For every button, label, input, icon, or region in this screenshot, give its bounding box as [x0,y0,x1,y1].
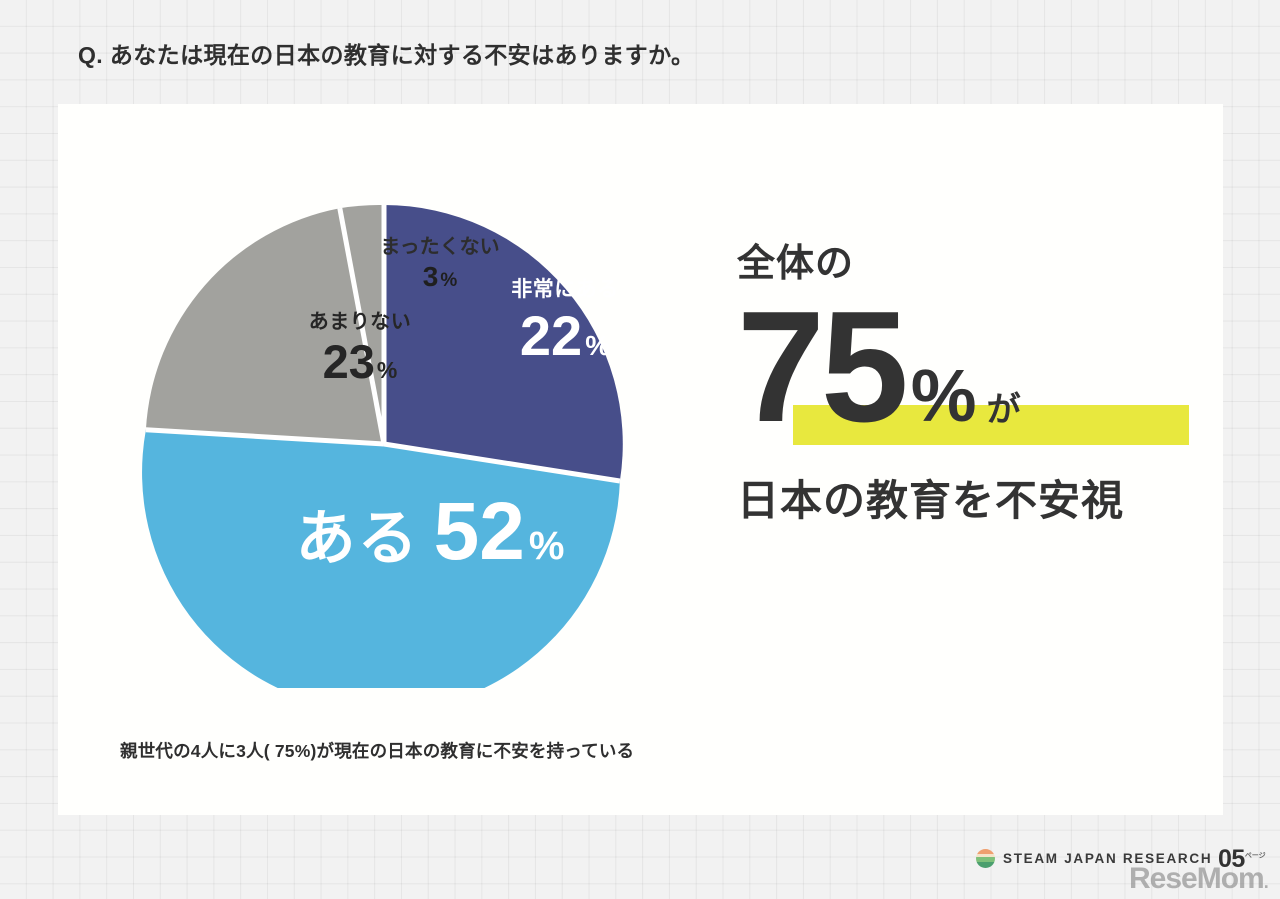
highlight-particle: が [987,393,1021,427]
page-title: Q. あなたは現在の日本の教育に対する不安はありますか。 [78,36,694,70]
highlight-figure-row: 75 % が [737,292,1197,457]
highlight-figure: 75 % が [737,292,1197,436]
watermark: ReseMom. [1129,862,1268,896]
steam-japan-logo-icon [976,849,995,868]
pie-callout-none: まったくない 3% [340,236,540,294]
highlight-percent-symbol: % [911,359,977,433]
pie-chart: まったくない 3% 非常にある 22% あまりない 23% ある 52% [140,200,628,688]
pie-callout-none-label: まったくない [340,236,540,259]
chart-caption: 親世代の4人に3人( 75%)が現在の日本の教育に不安を持っている [120,738,634,763]
content-card: まったくない 3% 非常にある 22% あまりない 23% ある 52% 全体の… [58,104,1223,815]
highlight-bottom-text: 日本の教育を不安視 [737,467,1197,528]
footer: STEAM JAPAN RESEARCH 05ページ [0,845,1280,885]
highlight-block: 全体の 75 % が 日本の教育を不安視 [737,244,1197,528]
highlight-number: 75 [737,300,905,436]
pie-callout-none-value: 3% [340,261,540,293]
